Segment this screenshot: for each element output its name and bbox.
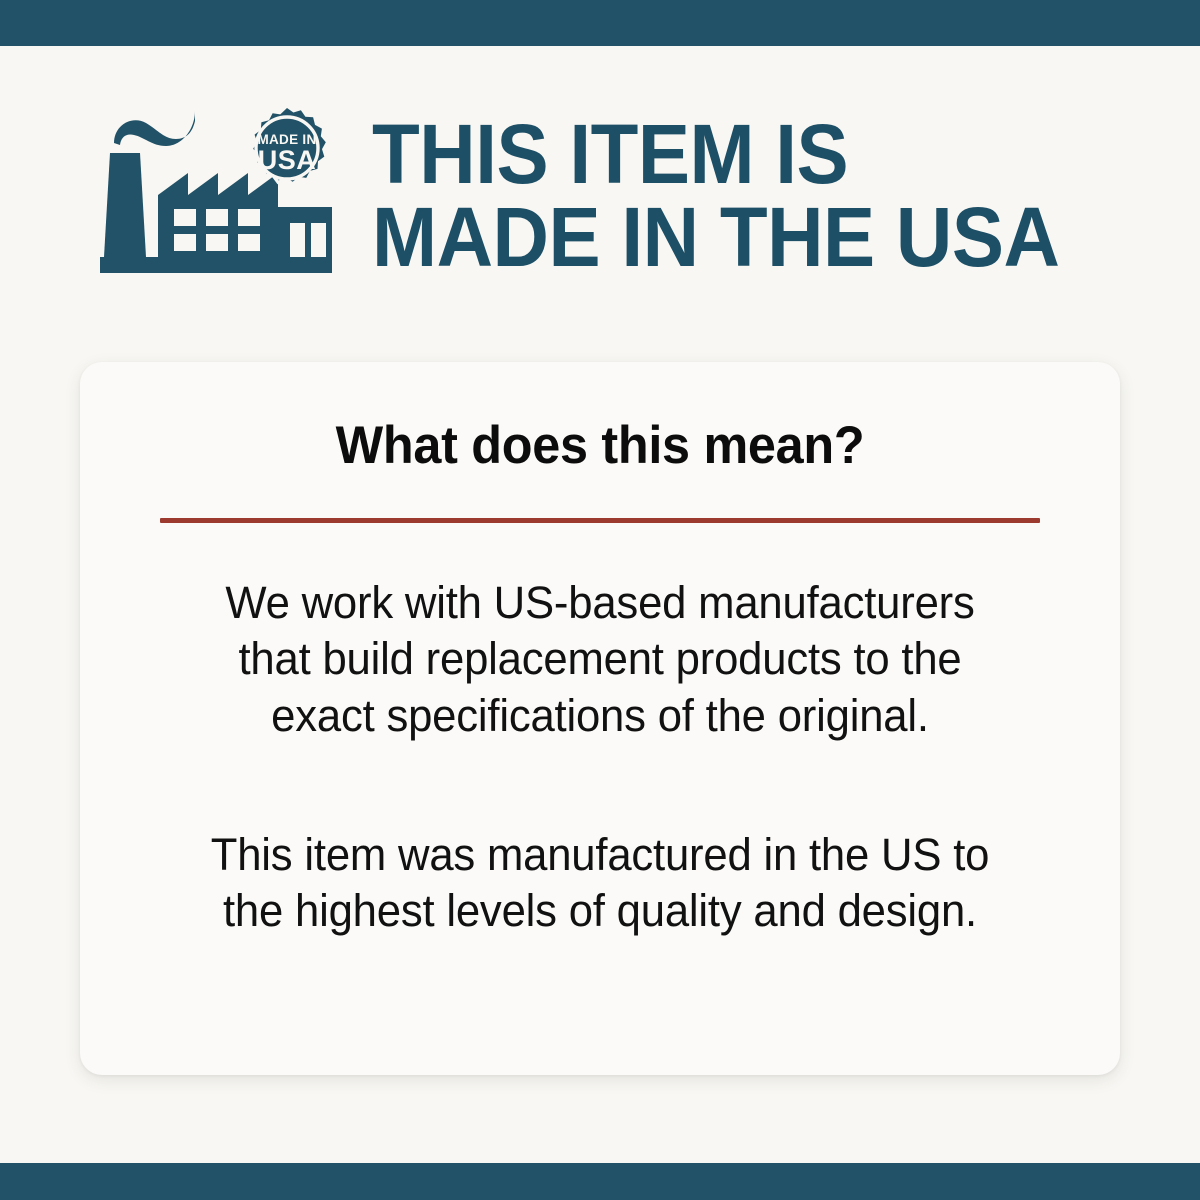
card-paragraph-2: This item was manufactured in the US to … — [134, 827, 1065, 940]
card-paragraph-1: We work with US-based manufacturers that… — [134, 575, 1065, 745]
page-title: THIS ITEM IS MADE IN THE USA — [372, 113, 1059, 279]
bottom-accent-bar — [0, 1163, 1200, 1200]
card-heading: What does this mean? — [144, 362, 1056, 474]
header-section: MADE IN USA THIS ITEM IS MADE IN THE USA — [0, 46, 1200, 346]
top-accent-bar — [0, 0, 1200, 46]
made-in-usa-seal-icon: MADE IN USA — [249, 103, 330, 186]
explanation-card: What does this mean? We work with US-bas… — [80, 362, 1120, 1075]
made-in-usa-panel: MADE IN USA THIS ITEM IS MADE IN THE USA… — [0, 0, 1200, 1200]
svg-text:USA: USA — [258, 145, 317, 175]
factory-icon: MADE IN USA — [96, 99, 336, 284]
card-body: We work with US-based manufacturers that… — [120, 523, 1080, 940]
